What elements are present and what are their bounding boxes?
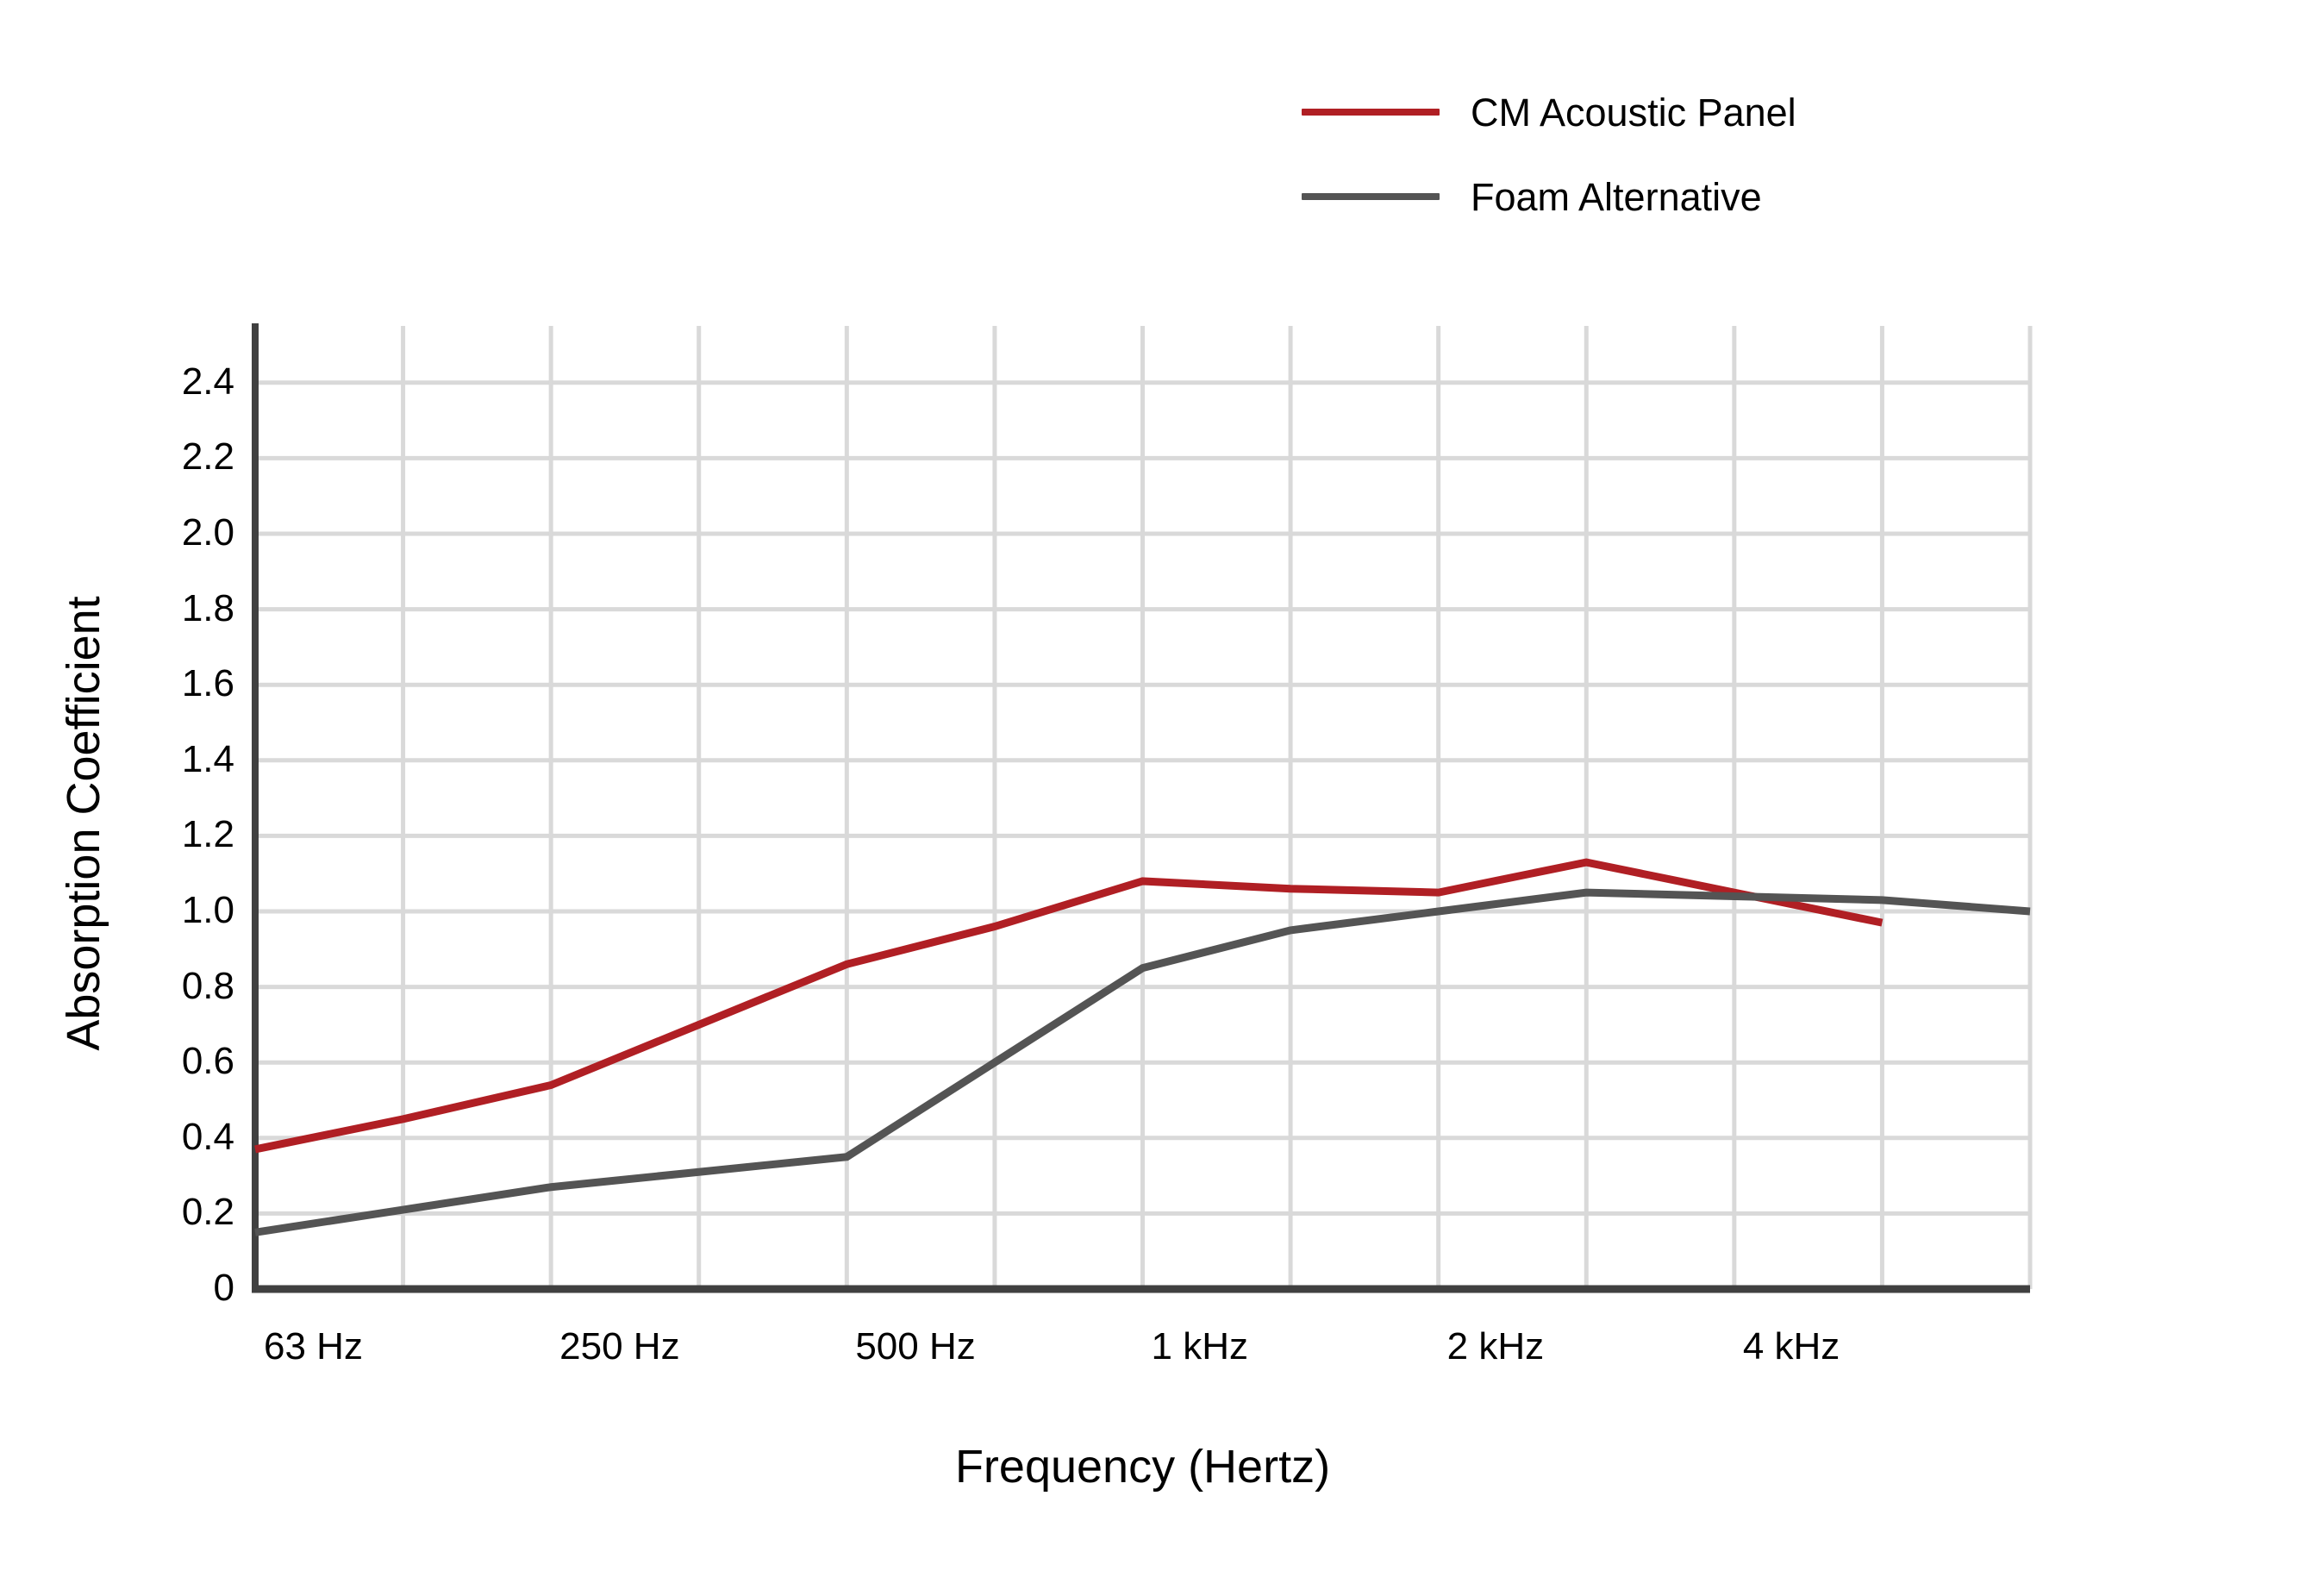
x-tick-label: 63 Hz <box>264 1328 363 1366</box>
y-tick-label: 0.4 <box>182 1118 234 1156</box>
y-tick-label: 1.6 <box>182 665 234 703</box>
x-tick-label: 4 kHz <box>1743 1328 1840 1366</box>
y-tick-label: 0.8 <box>182 967 234 1005</box>
x-tick-label: 250 Hz <box>559 1328 679 1366</box>
y-tick-label: 0.6 <box>182 1042 234 1080</box>
y-tick-label: 2.2 <box>182 438 234 476</box>
y-tick-label: 0 <box>214 1269 234 1307</box>
y-axis-title: Absorption Coefficient <box>57 358 110 1289</box>
y-tick-label: 2.0 <box>182 514 234 552</box>
y-tick-label: 2.4 <box>182 363 234 401</box>
y-axis-tick-labels: 00.20.40.60.81.01.21.41.61.82.02.22.4 <box>0 0 234 1596</box>
x-axis-title: Frequency (Hertz) <box>255 1440 2030 1493</box>
absorption-coefficient-chart: CM Acoustic Panel Foam Alternative 00.20… <box>0 0 2324 1596</box>
y-tick-label: 1.4 <box>182 741 234 779</box>
y-tick-label: 0.2 <box>182 1193 234 1231</box>
series-line-cm-acoustic-panel <box>255 862 1882 1149</box>
y-tick-label: 1.8 <box>182 590 234 628</box>
x-tick-label: 500 Hz <box>855 1328 975 1366</box>
x-tick-label: 1 kHz <box>1152 1328 1248 1366</box>
y-tick-label: 1.0 <box>182 892 234 929</box>
x-tick-label: 2 kHz <box>1447 1328 1544 1366</box>
y-tick-label: 1.2 <box>182 816 234 854</box>
